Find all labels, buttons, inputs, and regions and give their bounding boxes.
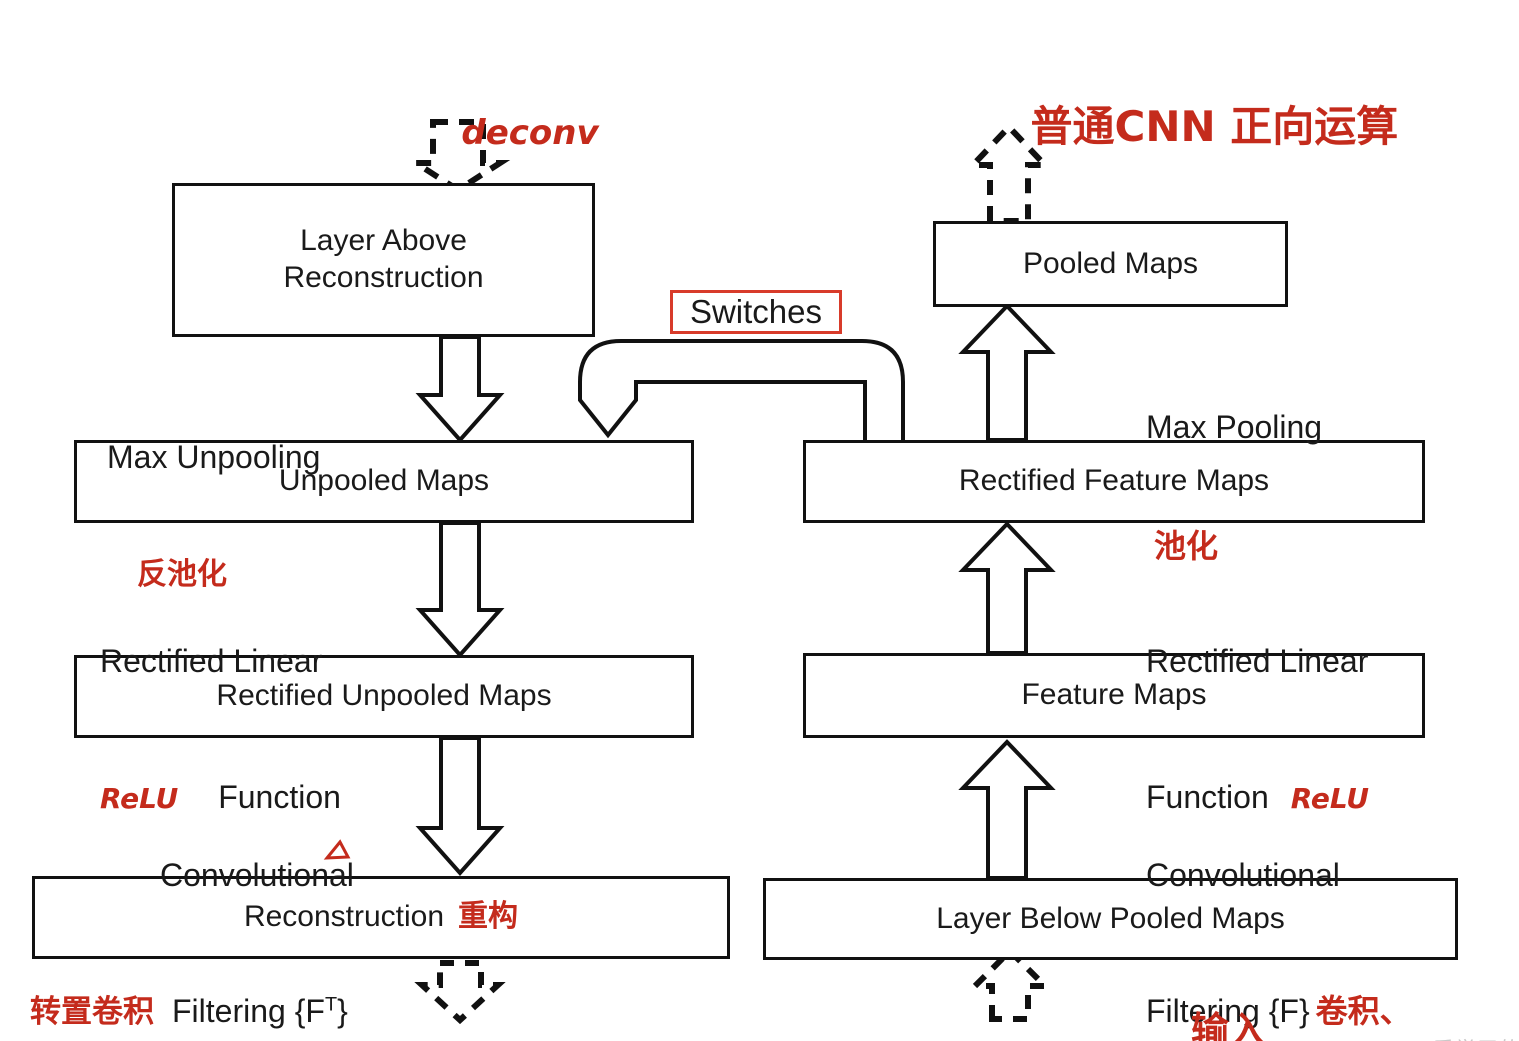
op-conv-transpose-cjk: 转置卷积 (30, 990, 154, 1034)
op-conv-filter-line1: Convolutional (1146, 853, 1412, 898)
conv-filter-arrow-icon (963, 742, 1051, 878)
max-unpooling-arrow-icon (420, 337, 500, 440)
switches-label: Switches (690, 293, 822, 331)
op-conv-transpose-line1: Convolutional (160, 853, 354, 898)
diagram-canvas: Layer Above Reconstruction Unpooled Maps… (0, 0, 1519, 1041)
annotation-input-text: 输入 (1191, 1009, 1267, 1041)
relu-right-arrow-icon (963, 524, 1051, 653)
op-conv-transpose: Convolutional 转置卷积 Filtering {FT} (30, 762, 354, 1041)
op-conv-transpose-superscript: T (325, 994, 337, 1016)
box-rectified-feature-maps[interactable]: Rectified Feature Maps (803, 440, 1425, 523)
box-layer-above-reconstruction-label: Layer Above Reconstruction (283, 223, 483, 296)
annotation-cnn-forward: 普通CNN 正向运算 (972, 50, 1398, 204)
annotation-input: 输入 (1138, 962, 1267, 1041)
op-conv-transpose-row2: 转置卷积 Filtering {FT} (30, 989, 354, 1034)
max-pooling-arrow-icon (963, 306, 1051, 440)
watermark: CSDN @爱学习的书文 (1313, 1010, 1519, 1041)
op-conv-transpose-line2-text: Filtering {F (172, 993, 325, 1029)
op-relu-left-line1: Rectified Linear (100, 639, 341, 684)
op-conv-transpose-line2-end: } (337, 993, 348, 1029)
annotation-cnn-forward-text: 普通CNN 正向运算 (1031, 102, 1399, 151)
box-reconstruction-cjk-annotation: 重构 (458, 899, 518, 936)
switches-label-box[interactable]: Switches (670, 290, 842, 334)
reconstruction-output-dashed-arrow-icon (422, 963, 498, 1020)
box-pooled-maps[interactable]: Pooled Maps (933, 221, 1288, 307)
box-pooled-maps-label: Pooled Maps (1023, 246, 1198, 283)
op-relu-right-line1: Rectified Linear (1146, 639, 1369, 684)
op-max-unpooling-label: Max Unpooling (107, 438, 320, 477)
switches-connector-arrow-icon (580, 341, 903, 440)
relu-left-arrow-icon (420, 523, 500, 655)
annotation-deconv: deconv (414, 72, 599, 196)
conv-transpose-arrow-icon (420, 738, 500, 873)
box-layer-above-reconstruction[interactable]: Layer Above Reconstruction (172, 183, 595, 337)
op-max-pooling-label: Max Pooling (1146, 408, 1322, 447)
annotation-deconv-text: deconv (461, 113, 598, 153)
op-conv-transpose-line2: Filtering {FT} (172, 989, 348, 1034)
input-dashed-arrow-icon (975, 951, 1045, 1019)
